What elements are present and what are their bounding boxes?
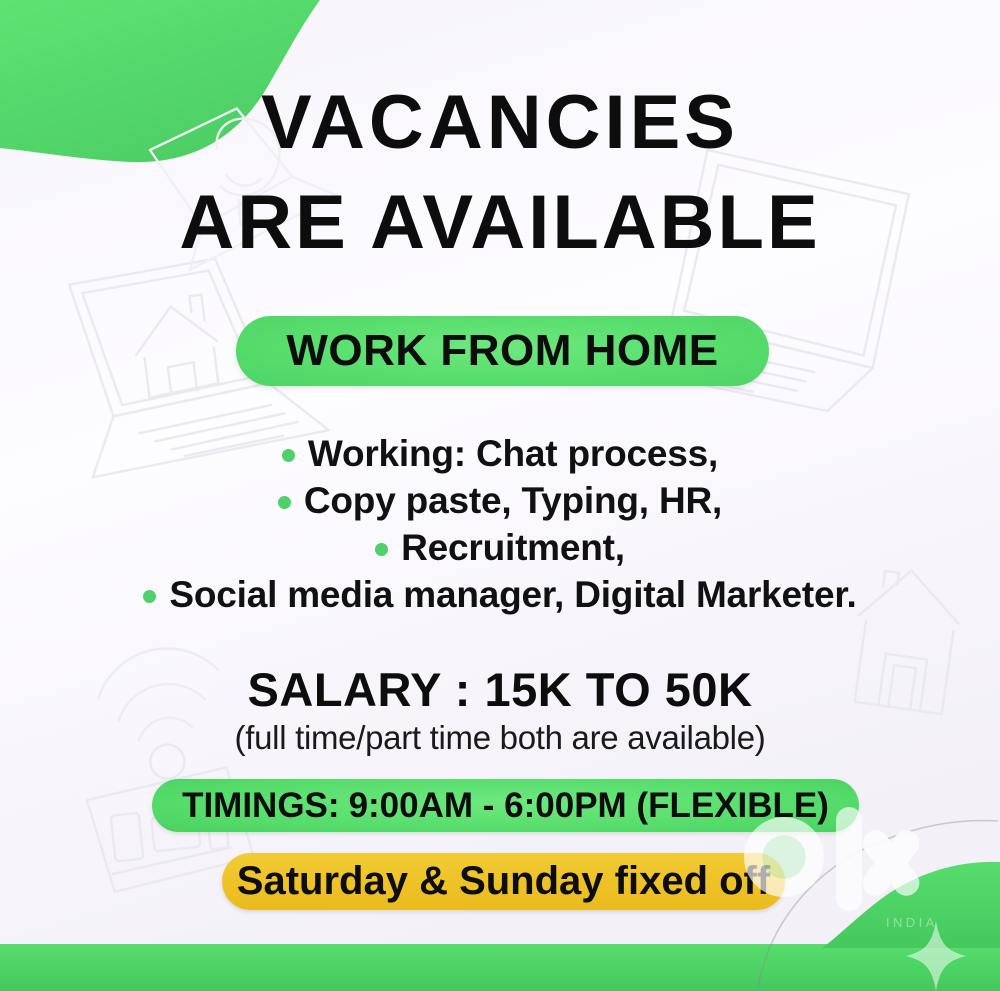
timings-value: 9:00AM - 6:00PM (FLEXIBLE) bbox=[349, 786, 829, 826]
weekend-off-badge: Saturday & Sunday fixed off bbox=[222, 853, 785, 910]
job-vacancy-poster: VACANCIES ARE AVAILABLE WORK FROM HOME W… bbox=[0, 0, 1000, 991]
list-item-label: Working: Chat process, bbox=[308, 433, 718, 475]
timings-badge: TIMINGS: 9:00AM - 6:00PM (FLEXIBLE) bbox=[152, 779, 859, 832]
list-item: Recruitment, bbox=[0, 524, 1000, 571]
list-item-label: Copy paste, Typing, HR, bbox=[304, 480, 722, 522]
bullet-dot-icon bbox=[375, 543, 388, 556]
list-item-label: Recruitment, bbox=[401, 527, 625, 569]
job-roles-list: Working: Chat process, Copy paste, Typin… bbox=[0, 430, 1000, 618]
page-title-line-1: VACANCIES bbox=[0, 86, 1000, 160]
page-title-line-2: ARE AVAILABLE bbox=[0, 186, 1000, 260]
list-item-label: Social media manager, Digital Marketer. bbox=[169, 574, 856, 616]
poster-content: VACANCIES ARE AVAILABLE WORK FROM HOME W… bbox=[0, 0, 1000, 991]
salary-range: SALARY : 15K TO 50K bbox=[0, 662, 1000, 717]
bullet-dot-icon bbox=[143, 590, 156, 603]
bullet-dot-icon bbox=[278, 496, 291, 509]
timings-label: TIMINGS: bbox=[182, 786, 339, 826]
list-item: Social media manager, Digital Marketer. bbox=[0, 571, 1000, 618]
bullet-dot-icon bbox=[282, 449, 295, 462]
salary-note: (full time/part time both are available) bbox=[0, 719, 1000, 757]
list-item: Working: Chat process, bbox=[0, 430, 1000, 477]
list-item: Copy paste, Typing, HR, bbox=[0, 477, 1000, 524]
work-from-home-badge: WORK FROM HOME bbox=[236, 316, 769, 386]
